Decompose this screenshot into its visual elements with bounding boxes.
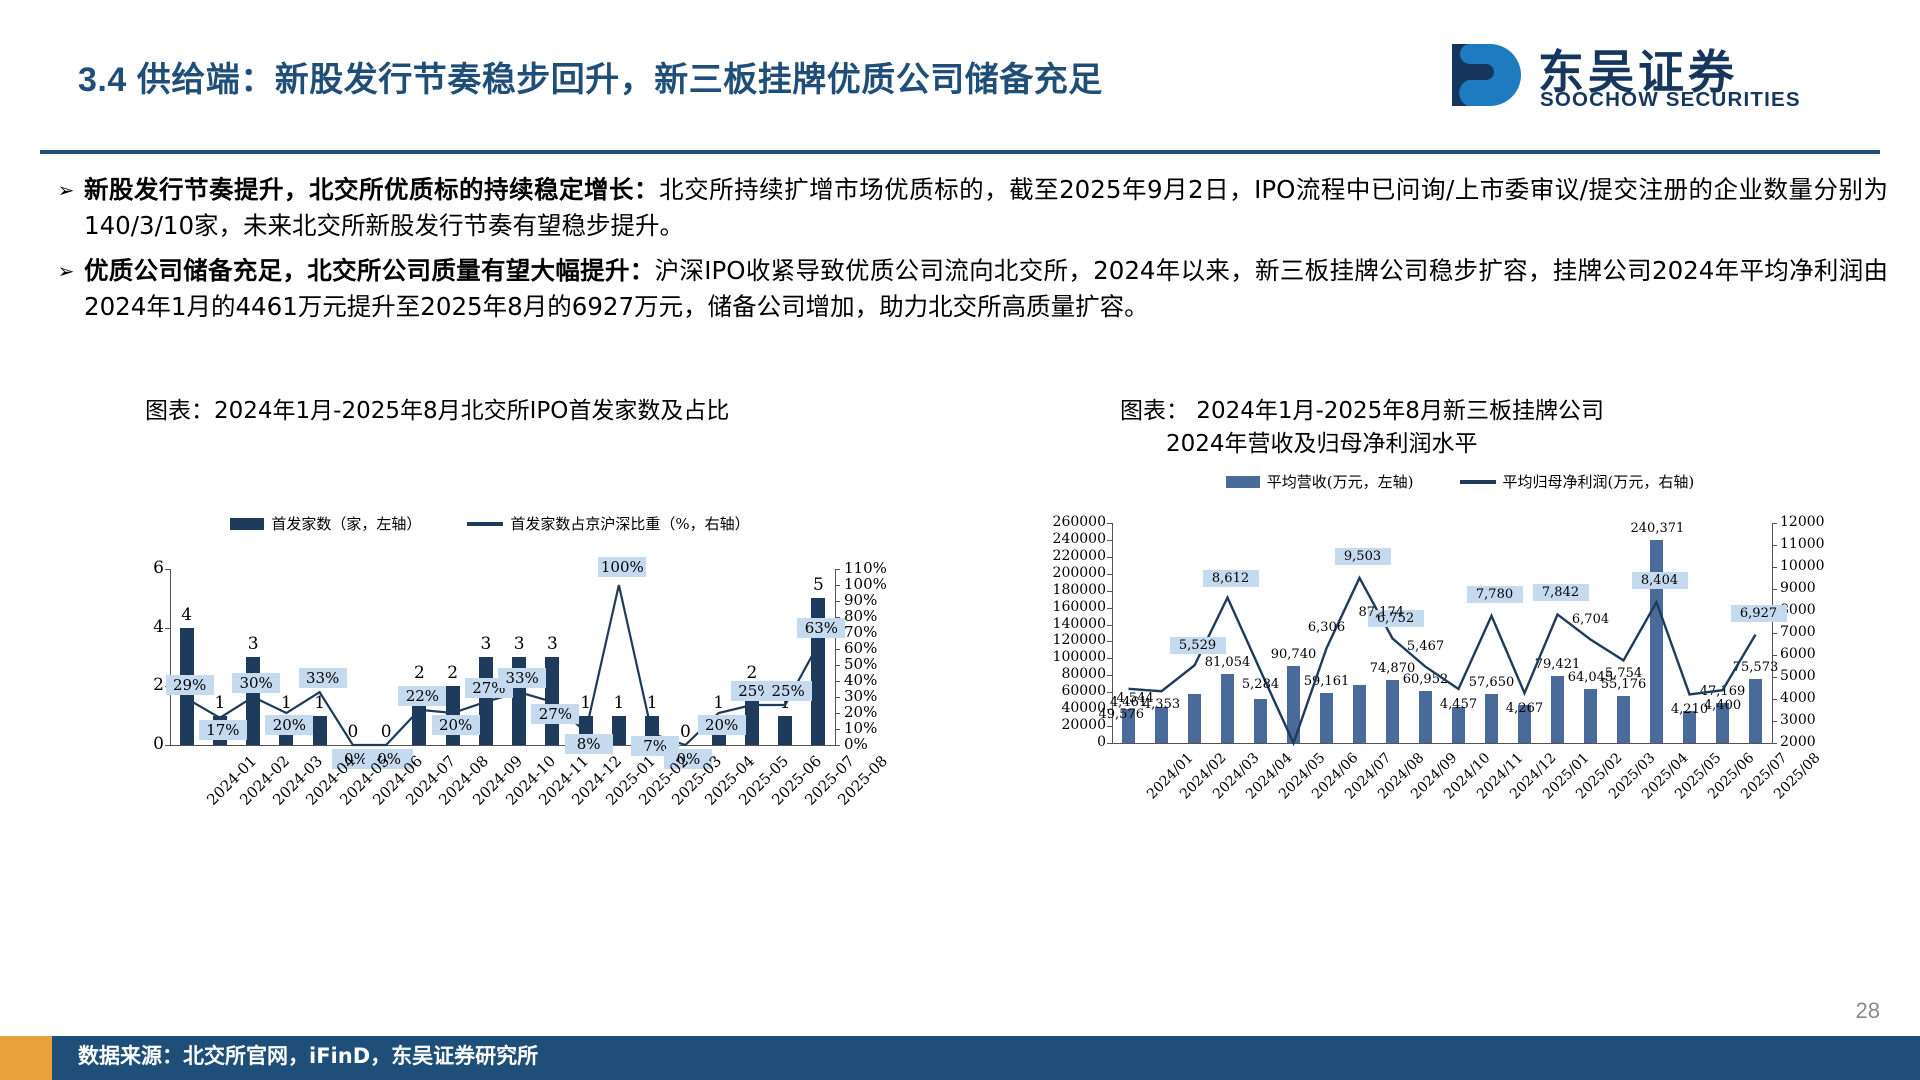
footer-source: 数据来源：北交所官网，iFinD，东吴证券研究所 [78,1040,538,1070]
legend-label: 首发家数（家，左轴） [271,513,421,534]
line-value-label: 4,400 [1698,698,1748,713]
legend-label: 首发家数占京沪深比重（%，右轴） [510,513,749,534]
list-item: ➢ 优质公司储备充足，北交所公司质量有望大幅提升：沪深IPO收紧导致优质公司流向… [48,253,1888,325]
legend-label: 平均营收(万元，左轴) [1267,471,1414,492]
chart-caption-left: 图表：2024年1月-2025年8月北交所IPO首发家数及占比 [145,395,905,428]
line-value-label: 7,780 [1467,586,1523,603]
extra-value-label: 49,576 [1099,707,1145,722]
line-value-label: 4,457 [1434,697,1484,712]
legend-label: 平均归母净利润(万元，右轴) [1503,471,1695,492]
line-value-label: 8,404 [1632,572,1688,589]
bullet-text: 新股发行节奏提升，北交所优质标的持续稳定增长：北交所持续扩增市场优质标的，截至2… [84,172,1888,244]
soochow-logo-mark [1450,42,1526,108]
bullet-list: ➢ 新股发行节奏提升，北交所优质标的持续稳定增长：北交所持续扩增市场优质标的，截… [48,172,1888,334]
legend-item: 平均归母净利润(万元，右轴) [1460,471,1695,492]
line-value-label: 27% [531,704,579,724]
page-title: 3.4 供给端：新股发行节奏稳步回升，新三板挂牌优质公司储备充足 [78,52,1103,101]
legend-item: 平均营收(万元，左轴) [1226,471,1414,492]
company-logo: 东吴证券 SOOCHOW SECURITIES [1450,38,1880,118]
chart-caption-right: 图表： 2024年1月-2025年8月新三板挂牌公司 2024年营收及归母净利润… [1120,395,1860,461]
list-item: ➢ 新股发行节奏提升，北交所优质标的持续稳定增长：北交所持续扩增市场优质标的，截… [48,172,1888,244]
legend-swatch-bar-icon [230,518,264,530]
line-value-label: 6,704 [1566,612,1616,627]
legend-swatch-line-icon [467,522,503,526]
line-value-label: 20% [432,715,480,735]
bullet-arrow-icon: ➢ [48,253,84,289]
legend-swatch-bar-icon [1226,476,1260,488]
line-value-label: 20% [698,715,746,735]
line-value-label: 33% [498,668,546,688]
header-divider [40,150,1880,154]
line-value-label: 25% [764,681,812,701]
extra-value-label: 87,174 [1359,605,1405,620]
plot-area-right: 0200004000060000800001000001200001400001… [1000,503,1880,815]
line-value-label: 29% [166,675,214,695]
line-value-label: 33% [299,668,347,688]
bullet-bold: 优质公司储备充足，北交所公司质量有望大幅提升： [84,256,655,285]
ipo-count-chart: 图表：2024年1月-2025年8月北交所IPO首发家数及占比 首发家数（家，左… [60,395,920,815]
line-value-label: 8% [565,734,613,754]
nfse-revenue-profit-chart: 图表： 2024年1月-2025年8月新三板挂牌公司 2024年营收及归母净利润… [1000,395,1880,815]
line-value-label: 17% [199,720,247,740]
line-value-label: 5,467 [1401,639,1451,654]
footer-bar: 数据来源：北交所官网，iFinD，东吴证券研究所 [0,1036,1920,1080]
bullet-bold: 新股发行节奏提升，北交所优质标的持续稳定增长： [84,175,659,204]
line-value-label: 30% [232,673,280,693]
slide-header: 3.4 供给端：新股发行节奏稳步回升，新三板挂牌优质公司储备充足 东吴证券 SO… [0,0,1920,160]
line-value-label: 22% [398,686,446,706]
chart-legend-right: 平均营收(万元，左轴)平均归母净利润(万元，右轴) [1040,471,1880,492]
line-value-label: 4,267 [1500,701,1550,716]
line-value-label: 9,503 [1335,548,1391,565]
legend-item: 首发家数占京沪深比重（%，右轴） [467,513,749,534]
line-value-label: 20% [265,715,313,735]
line-value-label: 7,842 [1533,584,1589,601]
line-value-label: 100% [598,557,646,577]
chart-caption-right-line2: 2024年营收及归母净利润水平 [1166,428,1860,461]
legend-item: 首发家数（家，左轴） [230,513,421,534]
page-number: 28 [1856,998,1880,1024]
bullet-arrow-icon: ➢ [48,172,84,208]
line-value-label: 5,284 [1236,677,1286,692]
line-value-label: 5,529 [1170,637,1226,654]
plot-area-left: 02460%10%20%30%40%50%60%70%80%90%100%110… [60,555,920,815]
legend-swatch-line-icon [1460,480,1496,484]
footer-accent [0,1036,52,1080]
bullet-text: 优质公司储备充足，北交所公司质量有望大幅提升：沪深IPO收紧导致优质公司流向北交… [84,253,1888,325]
extra-value-label: 4,544 [1117,691,1154,706]
line-value-label: 63% [797,618,845,638]
logo-text-en: SOOCHOW SECURITIES [1540,88,1801,112]
line-value-label: 6,927 [1731,605,1787,622]
line-value-label: 8,612 [1203,570,1259,587]
chart-legend-left: 首发家数（家，左轴）首发家数占京沪深比重（%，右轴） [140,513,840,534]
line-value-label: 6,306 [1302,620,1352,635]
line-value-label: 5,754 [1599,666,1649,681]
chart-caption-right-line1: 图表： 2024年1月-2025年8月新三板挂牌公司 [1120,395,1860,428]
